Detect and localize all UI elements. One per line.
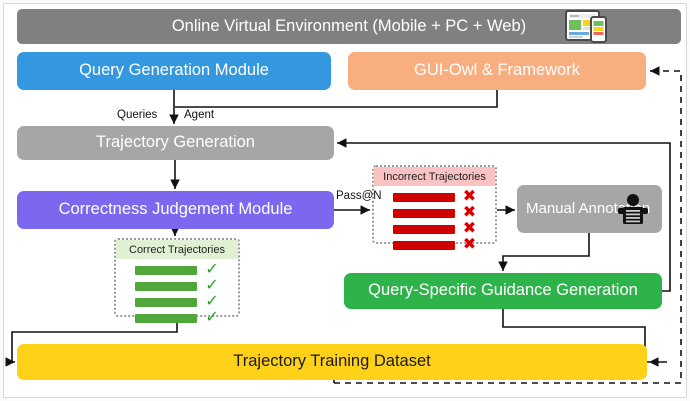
edge-label-agent: Agent	[184, 109, 214, 121]
node-label: Trajectory Training Dataset	[233, 353, 430, 370]
list-item: ✖	[393, 189, 476, 205]
trajectory-bar	[393, 225, 455, 234]
panel-rows: ✓ ✓ ✓ ✓	[116, 262, 238, 312]
node-label: Correctness Judgement Module	[59, 201, 293, 218]
node-label: Query-Specific Guidance Generation	[368, 282, 638, 299]
node-label: Query Generation Module	[79, 62, 269, 79]
list-item: ✓	[135, 278, 218, 294]
list-item: ✖	[393, 205, 476, 221]
node-gui-owl-framework[interactable]: GUI-Owl & Framework	[348, 52, 646, 90]
list-item: ✓	[135, 262, 218, 278]
check-icon: ✓	[205, 310, 218, 326]
panel-rows: ✖ ✖ ✖ ✖	[374, 189, 495, 239]
trajectory-bar	[393, 193, 455, 202]
cross-icon: ✖	[463, 221, 476, 237]
diagram-canvas: Online Virtual Environment (Mobile + PC …	[0, 0, 690, 401]
cross-icon: ✖	[463, 189, 476, 205]
check-icon: ✓	[205, 294, 218, 310]
node-correctness-judgement-module[interactable]: Correctness Judgement Module	[17, 191, 334, 229]
list-item: ✖	[393, 221, 476, 237]
header-title: Online Virtual Environment (Mobile + PC …	[172, 18, 526, 35]
panel-caption: Correct Trajectories	[116, 240, 238, 259]
cross-icon: ✖	[463, 237, 476, 253]
list-item: ✖	[393, 237, 476, 253]
list-item: ✓	[135, 294, 218, 310]
trajectory-bar	[135, 266, 197, 275]
trajectory-bar	[135, 298, 197, 307]
trajectory-bar	[135, 282, 197, 291]
node-trajectory-generation[interactable]: Trajectory Generation	[17, 126, 334, 160]
node-query-generation-module[interactable]: Query Generation Module	[17, 52, 331, 90]
edge-label-queries: Queries	[117, 109, 157, 121]
edge-label-pass-at-n: Pass@N	[336, 190, 382, 202]
diagram-frame: Online Virtual Environment (Mobile + PC …	[3, 3, 687, 398]
list-item: ✓	[135, 310, 218, 326]
node-trajectory-training-dataset[interactable]: Trajectory Training Dataset	[17, 344, 647, 380]
trajectory-bar	[393, 209, 455, 218]
node-query-specific-guidance-generation[interactable]: Query-Specific Guidance Generation	[344, 273, 662, 309]
trajectory-bar	[393, 241, 455, 250]
cross-icon: ✖	[463, 205, 476, 221]
check-icon: ✓	[205, 278, 218, 294]
panel-incorrect-trajectories: Incorrect Trajectories ✖ ✖ ✖ ✖	[372, 165, 497, 244]
trajectory-bar	[135, 314, 197, 323]
person-at-desk-icon	[616, 193, 650, 225]
panel-caption: Incorrect Trajectories	[374, 167, 495, 186]
node-label: GUI-Owl & Framework	[414, 62, 580, 79]
devices-browser-mobile-icon	[565, 10, 607, 43]
panel-correct-trajectories: Correct Trajectories ✓ ✓ ✓ ✓	[114, 238, 240, 317]
node-label: Trajectory Generation	[96, 134, 255, 151]
check-icon: ✓	[205, 262, 218, 278]
